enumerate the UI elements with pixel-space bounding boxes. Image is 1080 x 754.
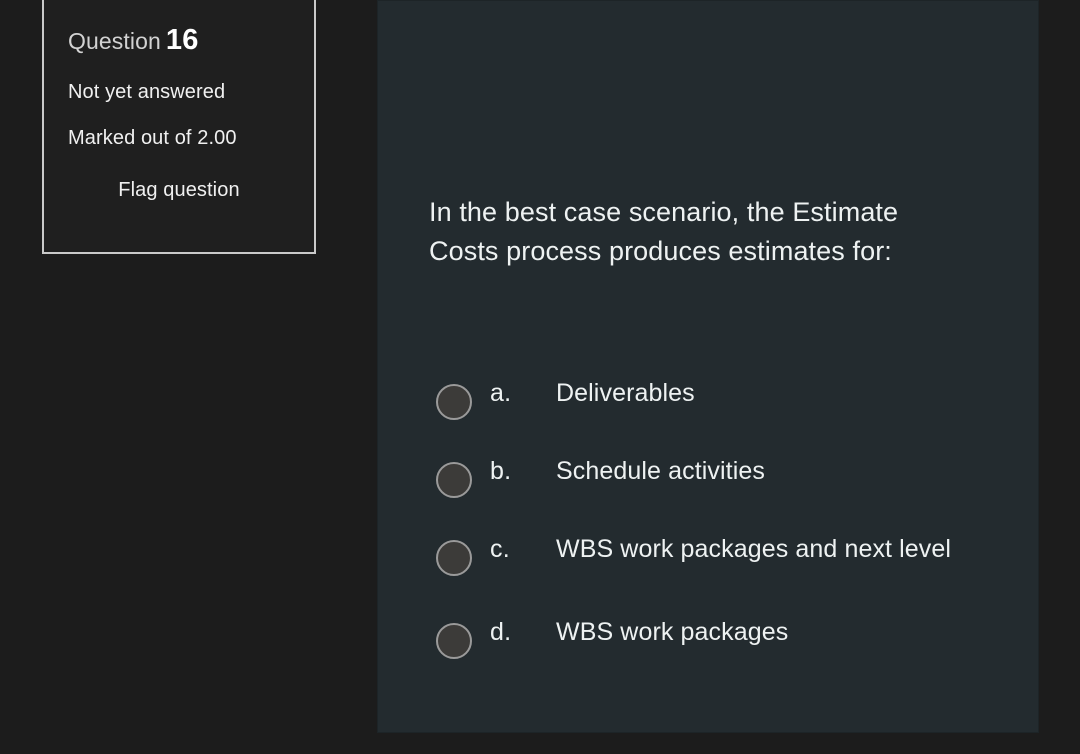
radio-cell-b [378, 445, 490, 498]
option-text-a[interactable]: Deliverables [556, 367, 1038, 412]
option-letter-c: c. [490, 523, 556, 564]
radio-cell-c [378, 523, 490, 576]
answer-option-d[interactable]: d. WBS work packages [378, 606, 1038, 684]
option-letter-d: d. [490, 606, 556, 647]
radio-button-c[interactable] [436, 540, 472, 576]
question-info-content: Question16 Not yet answered Marked out o… [44, 0, 314, 202]
answer-option-a[interactable]: a. Deliverables [378, 367, 1038, 445]
flag-question-link[interactable]: Flag question [68, 179, 290, 202]
radio-cell-a [378, 367, 490, 420]
option-letter-b: b. [490, 445, 556, 486]
answer-option-b[interactable]: b. Schedule activities [378, 445, 1038, 523]
option-text-b[interactable]: Schedule activities [556, 445, 1038, 490]
radio-cell-d [378, 606, 490, 659]
radio-button-d[interactable] [436, 623, 472, 659]
answer-options-list: a. Deliverables b. Schedule activities c… [378, 367, 1038, 684]
option-letter-a: a. [490, 367, 556, 408]
answer-option-c[interactable]: c. WBS work packages and next level [378, 523, 1038, 606]
radio-button-a[interactable] [436, 384, 472, 420]
question-number: Question16 [68, 26, 290, 55]
option-text-c[interactable]: WBS work packages and next level [556, 523, 1038, 568]
question-number-value: 16 [166, 24, 199, 56]
radio-button-b[interactable] [436, 462, 472, 498]
question-stem-text: In the best case scenario, the Estimate … [429, 193, 959, 271]
question-panel: In the best case scenario, the Estimate … [377, 0, 1039, 733]
question-status: Not yet answered [68, 81, 290, 103]
option-text-d[interactable]: WBS work packages [556, 606, 1038, 651]
question-number-label: Question [68, 28, 161, 54]
question-info-box: Question16 Not yet answered Marked out o… [42, 0, 316, 254]
question-marks: Marked out of 2.00 [68, 127, 290, 149]
